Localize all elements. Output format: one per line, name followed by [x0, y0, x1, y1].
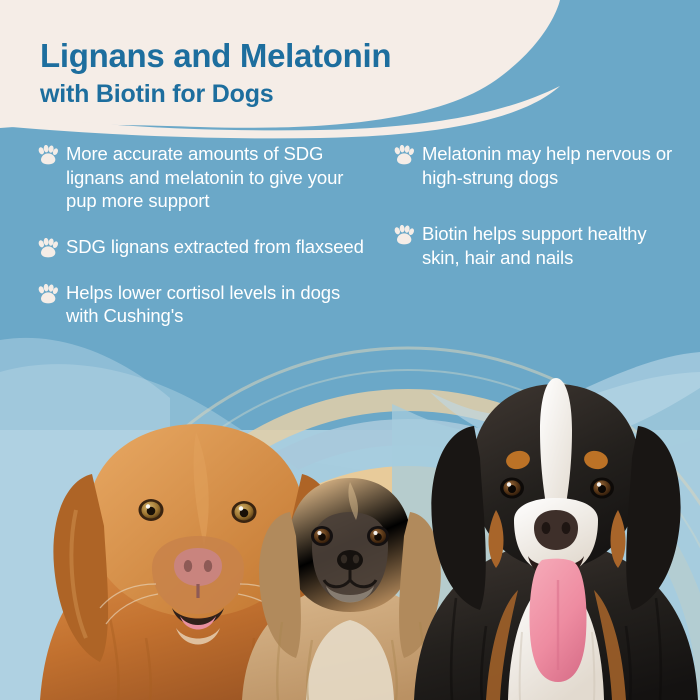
paw-print-icon	[36, 238, 58, 258]
list-item: SDG lignans extracted from flaxseed	[36, 235, 366, 259]
list-item-label: SDG lignans extracted from flaxseed	[66, 235, 366, 259]
dogs-photo-group	[0, 370, 700, 700]
benefits-column-right: Melatonin may help nervous or high-strun…	[392, 142, 682, 290]
page-title: Lignans and Melatonin	[40, 38, 560, 74]
list-item-label: Melatonin may help nervous or high-strun…	[422, 142, 682, 189]
list-item: Melatonin may help nervous or high-strun…	[392, 142, 682, 189]
paw-print-icon	[392, 225, 414, 245]
paw-print-icon	[36, 145, 58, 165]
list-item: More accurate amounts of SDG lignans and…	[36, 142, 366, 213]
bernese-mountain-dog	[414, 378, 698, 700]
benefits-list: More accurate amounts of SDG lignans and…	[0, 142, 700, 392]
list-item-label: Helps lower cortisol levels in dogs with…	[66, 281, 366, 328]
paw-print-icon	[392, 145, 414, 165]
list-item: Biotin helps support healthy skin, hair …	[392, 222, 682, 269]
list-item: Helps lower cortisol levels in dogs with…	[36, 281, 366, 328]
list-item-label: More accurate amounts of SDG lignans and…	[66, 142, 366, 213]
page-subtitle: with Biotin for Dogs	[40, 80, 560, 108]
benefits-column-left: More accurate amounts of SDG lignans and…	[36, 142, 366, 348]
paw-print-icon	[36, 284, 58, 304]
header-block: Lignans and Melatonin with Biotin for Do…	[40, 38, 560, 108]
list-item-label: Biotin helps support healthy skin, hair …	[422, 222, 682, 269]
poster-canvas: Lignans and Melatonin with Biotin for Do…	[0, 0, 700, 700]
